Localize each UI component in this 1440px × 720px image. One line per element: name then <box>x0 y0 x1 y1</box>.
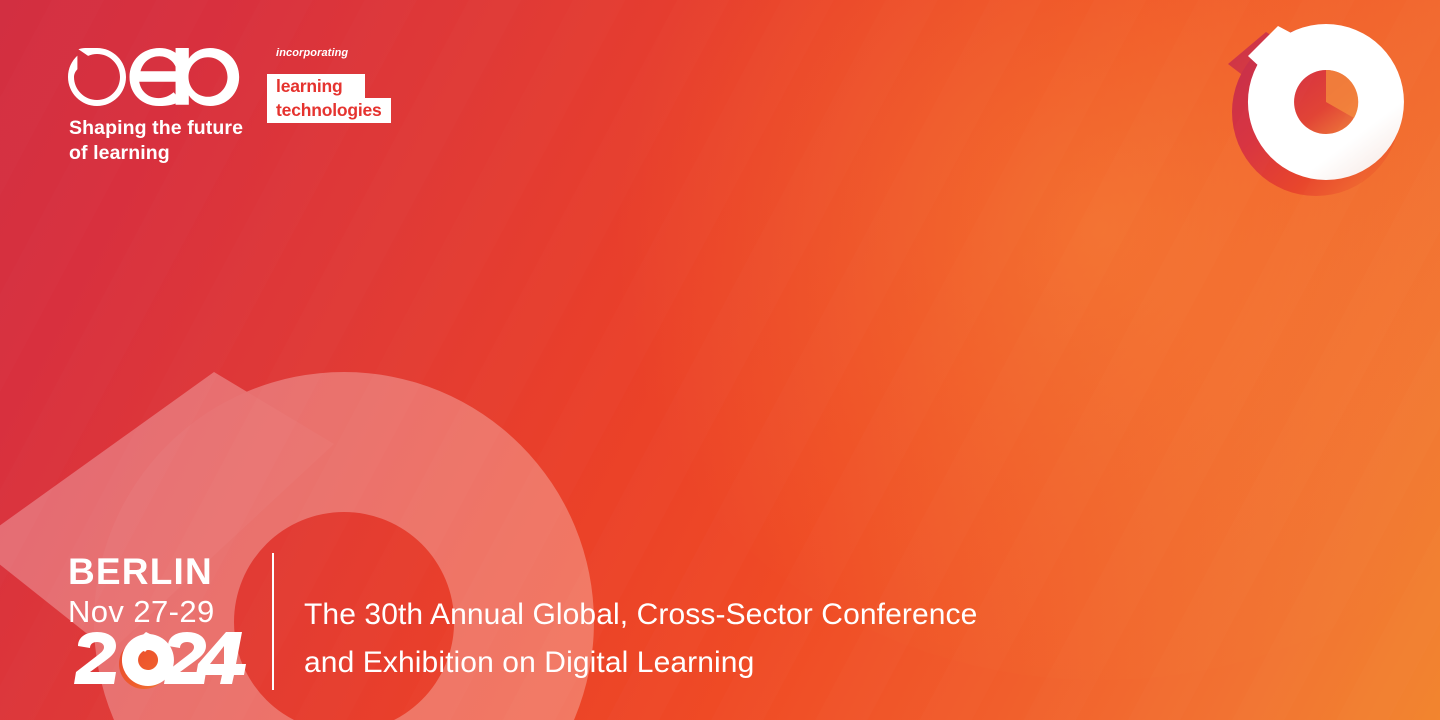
event-year-icon <box>68 632 248 694</box>
footer-divider <box>272 553 274 690</box>
event-place-block: BERLIN Nov 27-29 <box>68 553 272 694</box>
oeb-wordmark-icon <box>68 48 240 106</box>
lt-line-learning: learning <box>267 74 364 98</box>
learning-technologies-logo: learning technologies <box>267 74 391 123</box>
incorporating-block: incorporating learning technologies <box>267 48 391 123</box>
event-year <box>68 632 254 694</box>
event-city: BERLIN <box>68 553 254 590</box>
brand-lockup: Shaping the future of learning incorpora… <box>68 48 391 165</box>
oeb-brand-block: Shaping the future of learning <box>68 48 243 165</box>
lt-line-technologies: technologies <box>267 98 391 122</box>
event-dates: Nov 27-29 <box>68 595 254 630</box>
incorporating-kicker: incorporating <box>276 48 348 59</box>
brand-tagline: Shaping the future of learning <box>69 116 243 165</box>
oeb-banner: Shaping the future of learning incorpora… <box>0 0 1440 720</box>
event-strapline: The 30th Annual Global, Cross-Sector Con… <box>304 591 977 694</box>
oeb-ring-mark-icon <box>1204 16 1422 212</box>
footer-strip: BERLIN Nov 27-29 <box>68 553 977 694</box>
